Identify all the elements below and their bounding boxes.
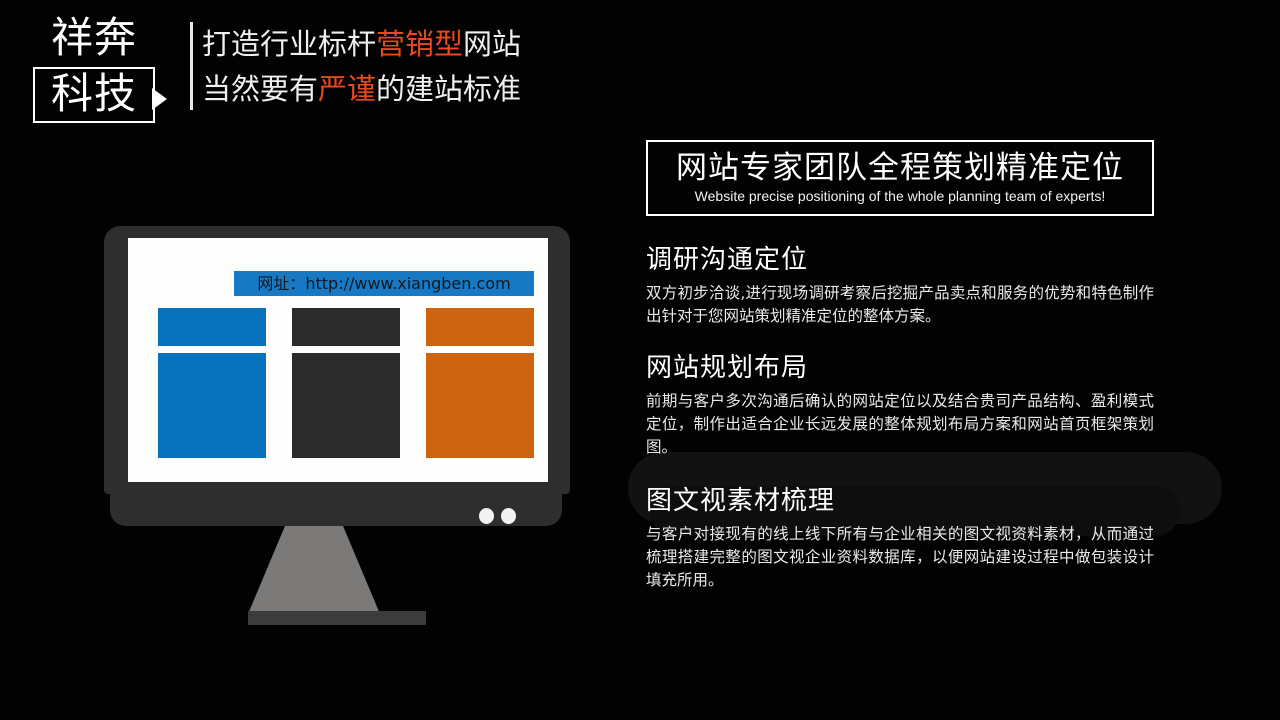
mock-block-orange-main [426,353,534,458]
mock-block-blue-main [158,353,266,458]
section-1-title: 调研沟通定位 [646,242,1154,278]
power-dot-icon [479,508,494,524]
panel-headline-en: Website precise positioning of the whole… [658,187,1142,206]
section-3-title: 图文视素材梳理 [646,483,1154,519]
monitor-stand-base [248,611,426,625]
slide-header: 祥奔 科技 打造行业标杆营销型网站 当然要有严谨的建站标准 [0,0,640,140]
header-line2-pre: 当然要有 [202,72,318,106]
status-dot-icon [501,508,516,524]
brand-logo-top: 祥奔 [33,14,155,62]
website-url-bar: 网址：http://www.xiangben.com [234,271,534,296]
section-3-body: 与客户对接现有的线上线下所有与企业相关的图文视资料素材，从而通过梳理搭建完整的图… [646,523,1154,592]
mock-block-orange-top [426,308,534,346]
mock-block-row-main [158,353,534,458]
mock-block-blue-top [158,308,266,346]
header-line2-accent: 严谨 [318,72,376,106]
header-line1-pre: 打造行业标杆 [202,27,376,61]
content-section-2: 网站规划布局 前期与客户多次沟通后确认的网站定位以及结合贵司产品结构、盈利模式定… [646,350,1154,459]
website-mock-blocks [158,308,534,458]
section-2-title: 网站规划布局 [646,350,1154,386]
panel-headline-box: 网站专家团队全程策划精准定位 Website precise positioni… [646,140,1154,216]
content-section-1: 调研沟通定位 双方初步洽谈,进行现场调研考察后挖掘产品卖点和服务的优势和特色制作… [646,242,1154,328]
section-2-body: 前期与客户多次沟通后确认的网站定位以及结合贵司产品结构、盈利模式定位，制作出适合… [646,390,1154,459]
header-line1-post: 网站 [463,27,521,61]
monitor-bottom-bezel [110,491,562,526]
monitor-frame: 网址：http://www.xiangben.com [104,226,570,494]
header-tagline: 打造行业标杆营销型网站 当然要有严谨的建站标准 [202,22,521,112]
slide-root: 祥奔 科技 打造行业标杆营销型网站 当然要有严谨的建站标准 网址：http://… [0,0,1280,720]
header-divider [190,22,193,110]
mock-block-row-top [158,308,534,346]
brand-logo-box: 科技 [33,67,155,123]
mock-block-dark-main [292,353,400,458]
header-tagline-line-2: 当然要有严谨的建站标准 [202,67,521,112]
header-line1-accent: 营销型 [376,27,463,61]
panel-headline-cn: 网站专家团队全程策划精准定位 [658,149,1142,187]
brand-logo-box-label: 科技 [39,70,149,118]
content-panel: 网站专家团队全程策划精准定位 Website precise positioni… [646,140,1154,610]
header-tagline-line-1: 打造行业标杆营销型网站 [202,22,521,67]
content-section-3: 图文视素材梳理 与客户对接现有的线上线下所有与企业相关的图文视资料素材，从而通过… [646,483,1154,592]
section-1-body: 双方初步洽谈,进行现场调研考察后挖掘产品卖点和服务的优势和特色制作出针对于您网站… [646,282,1154,328]
brand-logo: 祥奔 科技 [33,14,155,123]
play-triangle-icon [152,88,167,110]
mock-block-dark-top [292,308,400,346]
header-line2-post: 的建站标准 [376,72,521,106]
monitor-screen: 网址：http://www.xiangben.com [128,238,548,482]
monitor-stand-neck [248,526,380,614]
